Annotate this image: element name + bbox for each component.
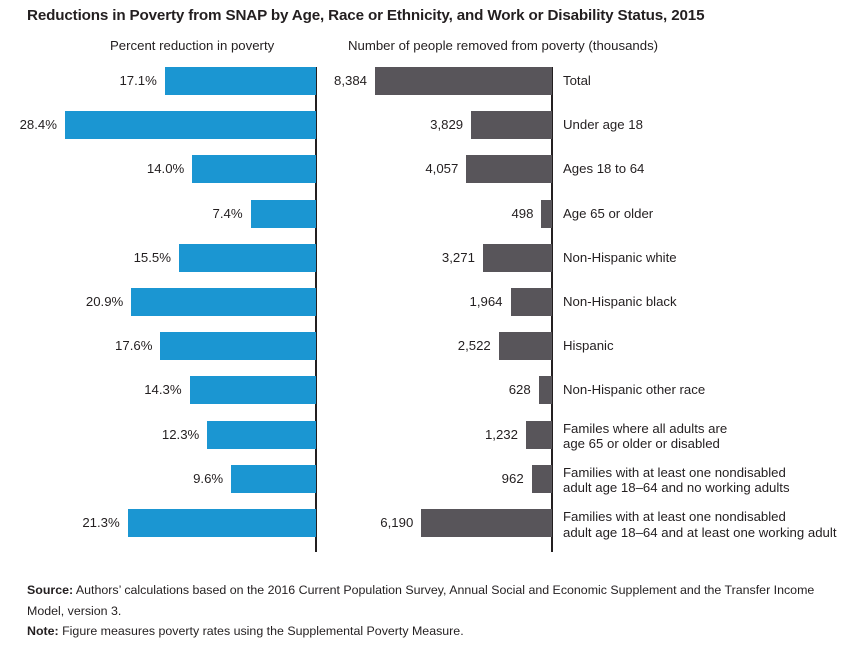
- category-label: Ages 18 to 64: [563, 161, 644, 177]
- figure-note: Note: Figure measures poverty rates usin…: [27, 621, 817, 642]
- percent-bar: [179, 244, 316, 272]
- percent-bar: [165, 67, 316, 95]
- count-value-label: 962: [326, 465, 524, 493]
- page-title: Reductions in Poverty from SNAP by Age, …: [27, 7, 827, 24]
- count-value-label: 4,057: [326, 155, 458, 183]
- percent-bar: [207, 421, 316, 449]
- percent-bar: [231, 465, 316, 493]
- category-label: Non-Hispanic white: [563, 250, 677, 266]
- chart-plot-area: 17.1%8,384Total28.4%3,829Under age 1814.…: [0, 60, 849, 560]
- category-label: Total: [563, 73, 591, 89]
- note-label: Note:: [27, 624, 59, 638]
- count-bar: [526, 421, 552, 449]
- percent-value-label: 7.4%: [0, 200, 243, 228]
- percent-value-label: 9.6%: [0, 465, 223, 493]
- category-label: Non-Hispanic black: [563, 294, 677, 310]
- count-value-label: 1,232: [326, 421, 518, 449]
- percent-value-label: 20.9%: [0, 288, 123, 316]
- percent-bar: [251, 200, 316, 228]
- count-value-label: 3,829: [326, 111, 463, 139]
- count-bar: [471, 111, 552, 139]
- percent-value-label: 17.6%: [0, 332, 152, 360]
- percent-value-label: 15.5%: [0, 244, 171, 272]
- percent-value-label: 17.1%: [0, 67, 157, 95]
- percent-bar: [160, 332, 316, 360]
- percent-bar: [192, 155, 316, 183]
- percent-bar: [131, 288, 316, 316]
- count-bar: [375, 67, 552, 95]
- count-value-label: 1,964: [326, 288, 503, 316]
- category-label: Families with at least one nondisabled a…: [563, 509, 836, 540]
- count-bar: [421, 509, 552, 537]
- category-label: Age 65 or older: [563, 206, 653, 222]
- note-text: Figure measures poverty rates using the …: [59, 624, 464, 638]
- percent-value-label: 21.3%: [0, 509, 120, 537]
- count-value-label: 3,271: [326, 244, 475, 272]
- percent-bar: [128, 509, 316, 537]
- percent-value-label: 28.4%: [0, 111, 57, 139]
- count-bar: [539, 376, 552, 404]
- count-bar: [466, 155, 552, 183]
- count-bar: [541, 200, 552, 228]
- right-panel-subtitle: Number of people removed from poverty (t…: [348, 38, 658, 53]
- source-note: Source: Authors’ calculations based on t…: [27, 580, 817, 621]
- category-label: Non-Hispanic other race: [563, 382, 705, 398]
- count-bar: [483, 244, 552, 272]
- percent-bar: [65, 111, 316, 139]
- count-value-label: 628: [326, 376, 531, 404]
- count-value-label: 6,190: [326, 509, 413, 537]
- category-label: Families with at least one nondisabled a…: [563, 465, 790, 496]
- category-label: Under age 18: [563, 117, 643, 133]
- category-label: Familes where all adults are age 65 or o…: [563, 421, 727, 452]
- source-text: Authors’ calculations based on the 2016 …: [27, 583, 814, 618]
- count-value-label: 2,522: [326, 332, 491, 360]
- count-value-label: 8,384: [326, 67, 367, 95]
- count-bar: [499, 332, 552, 360]
- count-bar: [532, 465, 552, 493]
- left-panel-subtitle: Percent reduction in poverty: [110, 38, 274, 53]
- percent-value-label: 14.3%: [0, 376, 182, 404]
- count-bar: [511, 288, 552, 316]
- percent-value-label: 12.3%: [0, 421, 199, 449]
- category-label: Hispanic: [563, 338, 614, 354]
- source-label: Source:: [27, 583, 73, 597]
- footnotes: Source: Authors’ calculations based on t…: [27, 580, 817, 642]
- percent-value-label: 14.0%: [0, 155, 184, 183]
- count-value-label: 498: [326, 200, 533, 228]
- percent-bar: [190, 376, 316, 404]
